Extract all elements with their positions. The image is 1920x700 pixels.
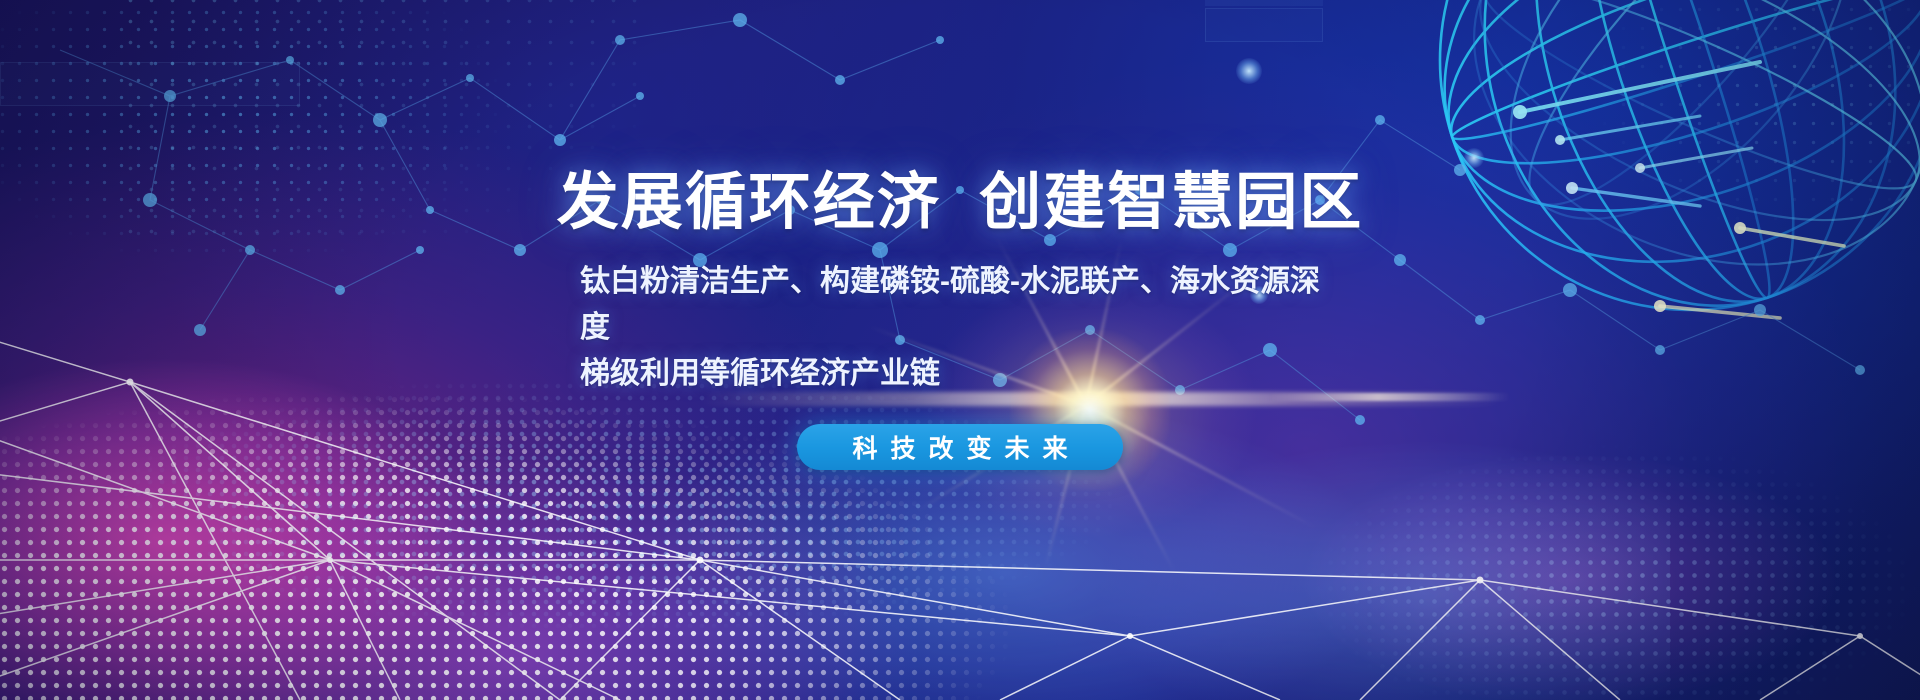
- subtitle-line-1: 钛白粉清洁生产、构建磷铵-硫酸-水泥联产、海水资源深度: [580, 259, 1340, 350]
- banner-subtitle: 钛白粉清洁生产、构建磷铵-硫酸-水泥联产、海水资源深度 梯级利用等循环经济产业链: [580, 259, 1340, 396]
- cta-button[interactable]: 科技改变未来: [797, 424, 1122, 470]
- hero-banner: 发展循环经济 创建智慧园区 钛白粉清洁生产、构建磷铵-硫酸-水泥联产、海水资源深…: [0, 0, 1920, 700]
- banner-content: 发展循环经济 创建智慧园区 钛白粉清洁生产、构建磷铵-硫酸-水泥联产、海水资源深…: [0, 0, 1920, 700]
- page-title: 发展循环经济 创建智慧园区: [557, 168, 1363, 237]
- subtitle-line-2: 梯级利用等循环经济产业链: [580, 351, 1340, 397]
